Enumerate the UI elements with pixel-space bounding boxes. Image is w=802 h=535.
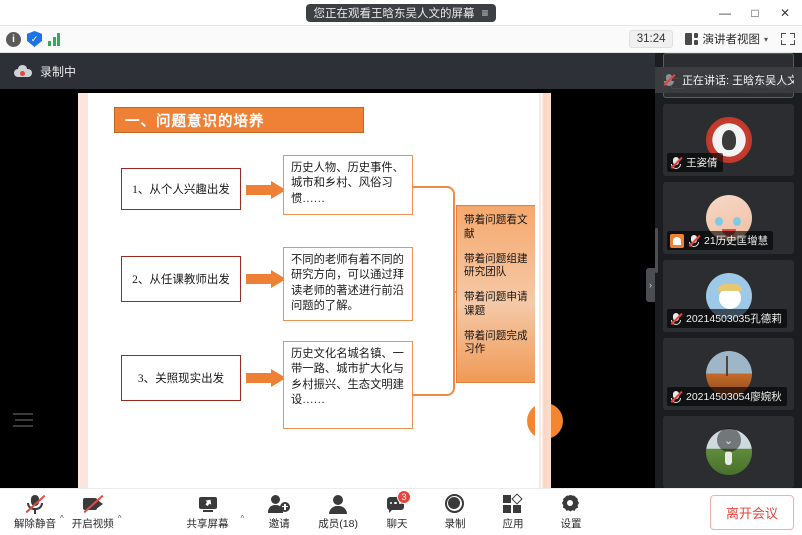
share-screen-label: 共享屏幕	[187, 516, 229, 531]
slide-right-box-1: 历史人物、历史事件、城市和乡村、风俗习惯……	[283, 155, 413, 215]
tile-label: 20214503035孔德莉	[667, 309, 787, 328]
participants-button[interactable]: 成员(18)	[312, 492, 364, 533]
mic-off-icon	[670, 312, 682, 326]
invite-button[interactable]: 邀请	[254, 492, 304, 533]
fullscreen-icon[interactable]	[780, 31, 796, 47]
view-mode-selector[interactable]: 演讲者视图 ▾	[681, 29, 772, 49]
shield-icon[interactable]: ✓	[27, 31, 42, 47]
meeting-sub-toolbar: i ✓ 31:24 演讲者视图 ▾	[0, 26, 802, 53]
minimize-button[interactable]: —	[710, 1, 740, 25]
filmstrip-tile-1[interactable]: 王姿倩	[663, 104, 794, 176]
video-label: 开启视频	[72, 516, 114, 531]
outcome-line-3: 带着问题申请课题	[464, 291, 536, 319]
record-icon	[444, 494, 466, 514]
slide-left-box-3: 3、关照现实出发	[121, 355, 241, 401]
chevron-down-icon: ▾	[764, 35, 768, 44]
participants-icon	[327, 494, 349, 514]
apps-grid-icon	[502, 494, 524, 514]
slide-arrow-1-icon	[246, 181, 286, 199]
slide-right-box-3: 历史文化名城名镇、一带一路、城市扩大化与乡村振兴、生态文明建设……	[283, 341, 413, 429]
recording-bar: 录制中	[0, 53, 655, 89]
active-speaker-text: 正在讲话: 王晗东吴人文	[682, 72, 794, 88]
slide-left-box-1: 1、从个人兴趣出发	[121, 168, 241, 210]
camera-off-icon	[82, 494, 104, 514]
tile-label: 21历史匡增慧	[667, 231, 773, 250]
slide-arrow-3-icon	[246, 369, 286, 387]
record-button[interactable]: 录制	[430, 492, 480, 533]
share-screen-button[interactable]: 共享屏幕	[181, 492, 235, 533]
record-label: 录制	[444, 516, 465, 531]
mute-button[interactable]: 解除静音	[8, 492, 62, 533]
apps-label: 应用	[502, 516, 523, 531]
filmstrip-scrollbar[interactable]	[655, 228, 658, 273]
mic-off-icon	[670, 156, 682, 170]
maximize-button[interactable]: □	[740, 1, 770, 25]
tile-label: 王姿倩	[667, 153, 723, 172]
stage-options-icon[interactable]	[8, 408, 36, 432]
filmstrip-tile-5[interactable]: ⌄	[663, 416, 794, 488]
mic-off-icon	[663, 73, 675, 87]
host-badge-icon	[670, 234, 684, 248]
gear-icon	[560, 494, 582, 514]
title-bar: 您正在观看王晗东吴人文的屏幕 ≡ — □ ✕	[0, 0, 802, 26]
share-screen-icon	[197, 494, 219, 514]
slide-title: 一、问题意识的培养	[114, 107, 364, 133]
settings-label: 设置	[560, 516, 581, 531]
tile-label: 20214503054廖婉秋	[667, 387, 787, 406]
outcome-line-1: 带着问题看文献	[464, 214, 536, 242]
mic-off-icon	[24, 494, 46, 514]
recording-label: 录制中	[40, 63, 76, 80]
shared-screen-stage: 录制中 一、问题意识的培养 1、从个人兴趣出发 2、从任课教师出发 3、关照现实…	[0, 53, 655, 488]
list-lines-icon[interactable]: ≡	[481, 7, 488, 19]
info-icon[interactable]: i	[6, 32, 21, 47]
cloud-recording-icon	[14, 65, 32, 77]
outcome-line-4: 带着问题完成习作	[464, 330, 536, 358]
window-controls: — □ ✕	[710, 0, 800, 26]
chat-button[interactable]: 3 聊天	[372, 492, 422, 533]
sidebar-collapse-handle[interactable]: ›	[646, 268, 655, 302]
filmstrip-tile-2[interactable]: 21历史匡增慧	[663, 182, 794, 254]
slide-arrow-2-icon	[246, 270, 286, 288]
chat-icon: 3	[386, 494, 408, 514]
slide-outcome-box: 带着问题看文献 带着问题组建研究团队 带着问题申请课题 带着问题完成习作	[456, 205, 544, 383]
outcome-line-2: 带着问题组建研究团队	[464, 253, 536, 281]
mic-off-icon	[670, 390, 682, 404]
filmstrip-tile-4[interactable]: 20214503054廖婉秋	[663, 338, 794, 410]
toolbar-center-group: 共享屏幕 ^ 邀请 成员(18) 3 聊	[181, 492, 596, 533]
share-notice-text: 您正在观看王晗东吴人文的屏幕	[313, 5, 474, 21]
video-button[interactable]: 开启视频	[66, 492, 120, 533]
close-button[interactable]: ✕	[770, 1, 800, 25]
mic-off-icon	[688, 234, 700, 248]
chat-label: 聊天	[386, 516, 407, 531]
apps-button[interactable]: 应用	[488, 492, 538, 533]
participants-label: 成员(18)	[318, 516, 358, 531]
meeting-timer: 31:24	[629, 30, 674, 48]
share-notice-pill[interactable]: 您正在观看王晗东吴人文的屏幕 ≡	[306, 4, 495, 22]
presentation-slide: 一、问题意识的培养 1、从个人兴趣出发 2、从任课教师出发 3、关照现实出发 历…	[78, 93, 551, 488]
settings-button[interactable]: 设置	[546, 492, 596, 533]
slide-brace-connector	[413, 186, 455, 396]
signal-bars-icon[interactable]	[48, 32, 60, 46]
invite-label: 邀请	[269, 516, 290, 531]
laser-pointer-dot	[527, 403, 563, 439]
meeting-right-controls: 31:24 演讲者视图 ▾	[629, 29, 796, 49]
slide-left-box-2: 2、从任课教师出发	[121, 256, 241, 302]
zoom-meeting-window: 您正在观看王晗东吴人文的屏幕 ≡ — □ ✕ i ✓ 31:24 演讲者视图 ▾	[0, 0, 802, 535]
filmstrip-tile-3[interactable]: 20214503035孔德莉	[663, 260, 794, 332]
add-user-icon	[268, 494, 290, 514]
toolbar-left-group: 解除静音 ^ 开启视频 ^	[8, 492, 124, 533]
slide-right-box-2: 不同的老师有着不同的研究方向，可以通过拜读老师的著述进行前沿问题的了解。	[283, 247, 413, 321]
active-speaker-toast: 正在讲话: 王晗东吴人文	[655, 67, 802, 93]
status-icons-group: i ✓	[6, 31, 60, 47]
tile-name: 21历史匡增慧	[704, 233, 768, 248]
tile-name: 王姿倩	[686, 155, 718, 170]
leave-meeting-button[interactable]: 离开会议	[710, 495, 794, 530]
view-mode-label: 演讲者视图	[702, 31, 760, 47]
tile-name: 20214503054廖婉秋	[686, 389, 782, 404]
chevron-down-icon[interactable]: ⌄	[717, 428, 741, 452]
mute-label: 解除静音	[14, 516, 56, 531]
meeting-toolbar: 解除静音 ^ 开启视频 ^ 共享屏幕 ^	[0, 488, 802, 535]
tile-name: 20214503035孔德莉	[686, 311, 782, 326]
chat-unread-badge: 3	[397, 490, 411, 504]
share-options-chevron-icon[interactable]: ^	[241, 514, 245, 523]
toolbar-right-group: 离开会议	[710, 495, 794, 530]
participants-filmstrip[interactable]: 王晗东吴人文的屏幕... 正在讲话: 王晗东吴人文 王姿倩 21历史匡增慧	[655, 53, 802, 488]
speaker-view-icon	[685, 33, 698, 45]
